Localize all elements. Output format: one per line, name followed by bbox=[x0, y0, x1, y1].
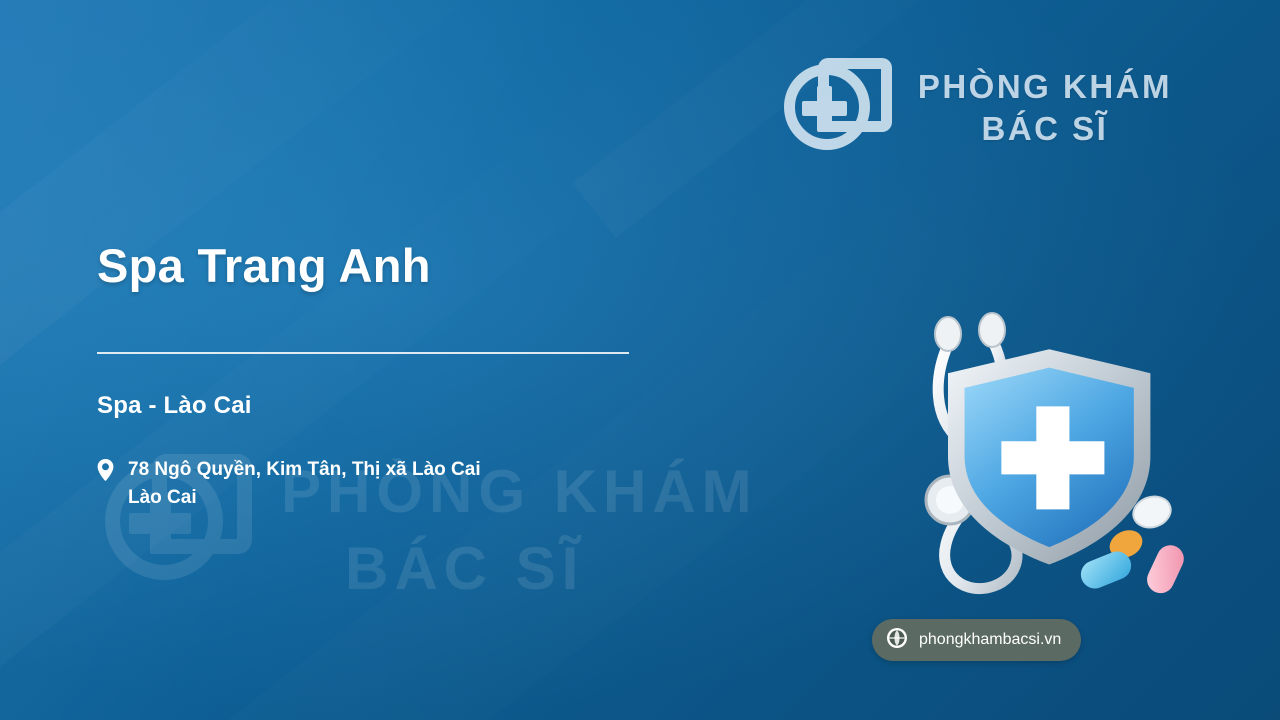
title-divider bbox=[97, 352, 629, 354]
medical-cross-circle-icon bbox=[784, 58, 896, 158]
category-location: Spa - Lào Cai bbox=[97, 392, 252, 420]
address-block: 78 Ngô Quyền, Kim Tân, Thị xã Lào Cai Là… bbox=[97, 456, 481, 511]
location-pin-icon bbox=[97, 459, 114, 490]
brand-line-2: BÁC SĨ bbox=[918, 111, 1172, 147]
background-streak bbox=[0, 0, 582, 464]
globe-icon bbox=[886, 627, 908, 654]
promo-card: PHÒNG KHÁM BÁC SĨ PHÒNG KHÁM BÁC SĨ Spa … bbox=[0, 0, 1280, 720]
address-line-2: Lào Cai bbox=[128, 487, 197, 508]
website-badge[interactable]: phongkhambacsi.vn bbox=[872, 619, 1081, 661]
stethoscope-shield-pills-illustration bbox=[894, 300, 1234, 630]
address-line-1: 78 Ngô Quyền, Kim Tân, Thị xã Lào Cai bbox=[128, 459, 481, 480]
background-streak bbox=[0, 32, 722, 719]
watermark-line-2: BÁC SĨ bbox=[281, 536, 758, 602]
brand-line-1: PHÒNG KHÁM bbox=[918, 69, 1172, 105]
page-title: Spa Trang Anh bbox=[97, 238, 431, 293]
brand-header: PHÒNG KHÁM BÁC SĨ bbox=[784, 58, 1172, 158]
website-url: phongkhambacsi.vn bbox=[919, 631, 1061, 649]
